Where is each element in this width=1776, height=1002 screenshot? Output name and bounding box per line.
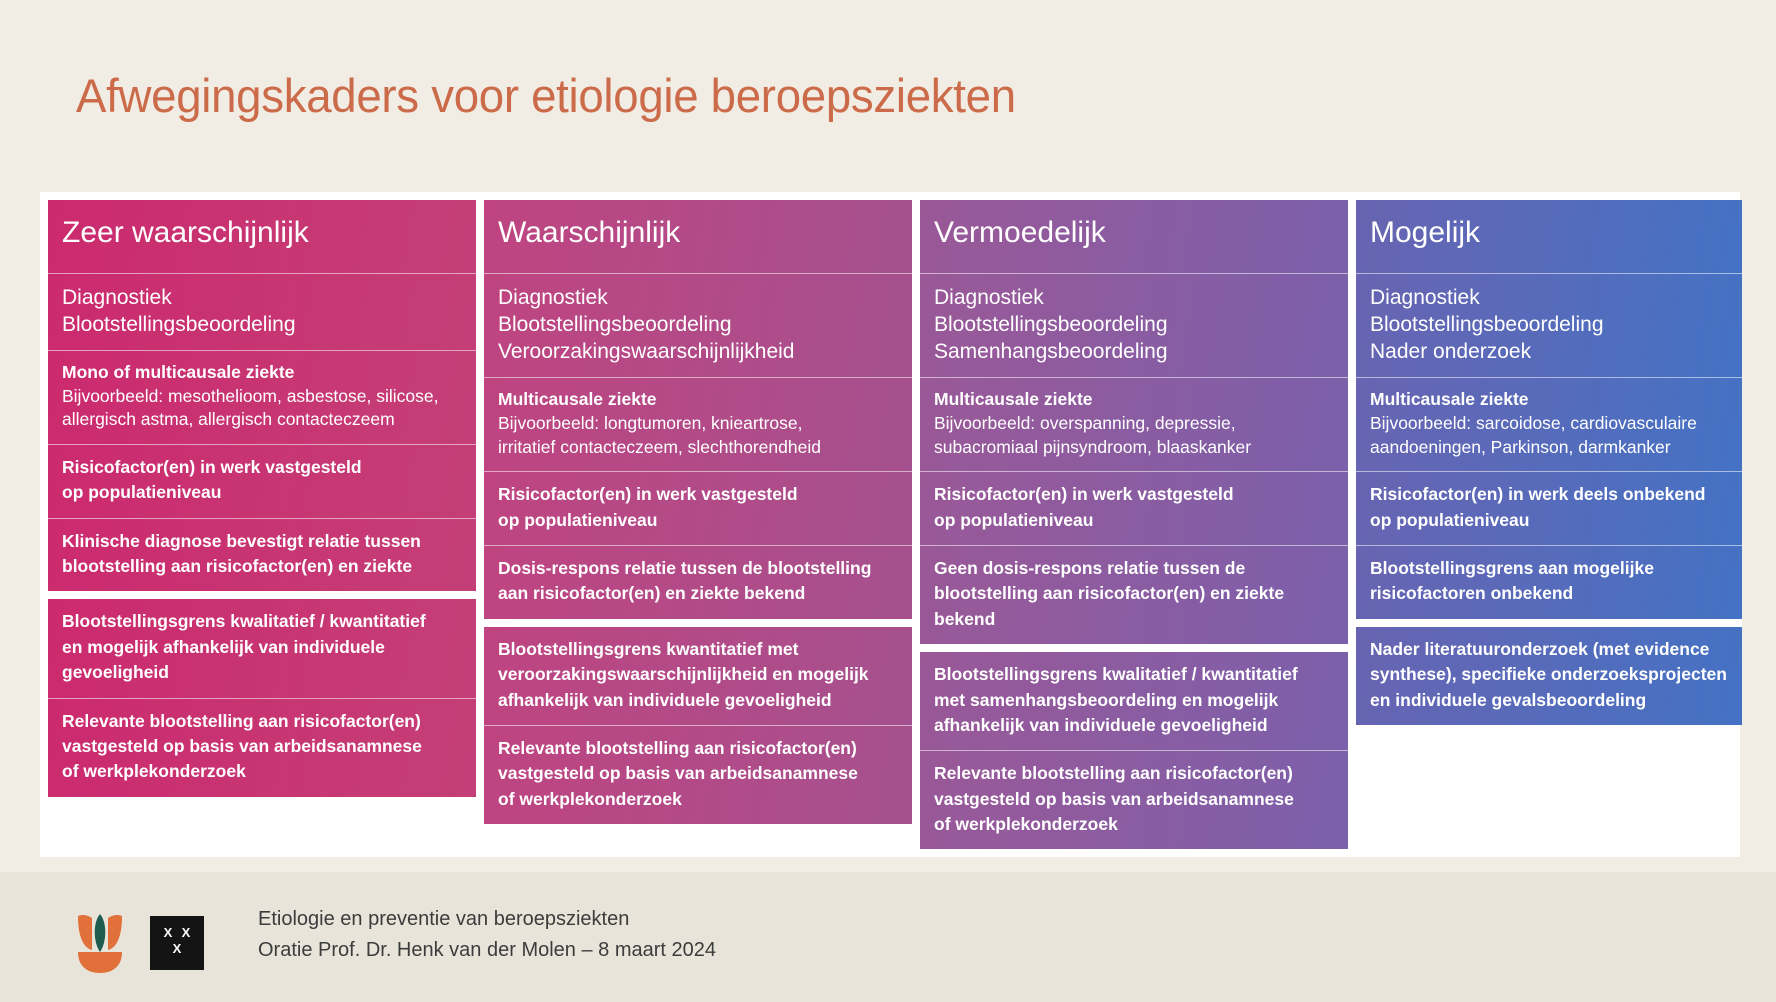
- exposure-assessment-text: Relevante blootstelling aan risicofactor…: [62, 709, 462, 785]
- exposure-limit-cell: Blootstellingsgrens kwantitatief met ver…: [484, 627, 912, 726]
- column-divider: [48, 591, 476, 599]
- column-header-cell: Waarschijnlijk: [484, 200, 912, 274]
- matrix-column-zeer-waarschijnlijk: Zeer waarschijnlijk Diagnostiek Blootste…: [48, 200, 476, 797]
- exposure-limit-text: Blootstellingsgrens kwantitatief met ver…: [498, 637, 898, 713]
- amsterdam-umc-tulip-logo: [72, 912, 128, 974]
- matrix-column-vermoedelijk: Vermoedelijk Diagnostiek Blootstellingsb…: [920, 200, 1348, 849]
- risk-factor-text: Risicofactor(en) in werk deels onbekend …: [1370, 482, 1706, 533]
- footer-logo-group: X X X: [72, 912, 204, 974]
- disease-type-cell: Multicausale ziekte Bijvoorbeeld: longtu…: [484, 378, 912, 472]
- disease-examples-text: Bijvoorbeeld: longtumoren, knieartrose, …: [498, 412, 898, 459]
- assessment-cell: Diagnostiek Blootstellingsbeoordeling: [48, 274, 476, 352]
- column-divider: [920, 644, 1348, 652]
- risk-factor-cell: Risicofactor(en) in werk vastgesteld op …: [484, 472, 912, 546]
- disease-type-cell: Mono of multicausale ziekte Bijvoorbeeld…: [48, 351, 476, 445]
- column-block-main: Zeer waarschijnlijk Diagnostiek Blootste…: [48, 200, 476, 591]
- svg-text:X: X: [164, 925, 173, 940]
- column-header-label: Mogelijk: [1370, 210, 1728, 261]
- column-block-main: Mogelijk Diagnostiek Blootstellingsbeoor…: [1356, 200, 1742, 619]
- assessment-text: Diagnostiek Blootstellingsbeoordeling Sa…: [934, 284, 1334, 366]
- exposure-limit-text: Nader literatuuronderzoek (met evidence …: [1370, 637, 1728, 713]
- disease-type-cell: Multicausale ziekte Bijvoorbeeld: oversp…: [920, 378, 1348, 472]
- column-header-cell: Mogelijk: [1356, 200, 1742, 274]
- disease-type-cell: Multicausale ziekte Bijvoorbeeld: sarcoi…: [1356, 378, 1742, 472]
- assessment-text: Diagnostiek Blootstellingsbeoordeling: [62, 284, 462, 339]
- risk-factor-cell: Risicofactor(en) in werk vastgesteld op …: [920, 472, 1348, 546]
- footer-line-1: Etiologie en preventie van beroepsziekte…: [258, 904, 716, 935]
- column-block-main: Vermoedelijk Diagnostiek Blootstellingsb…: [920, 200, 1348, 644]
- exposure-assessment-text: Relevante blootstelling aan risicofactor…: [934, 761, 1334, 837]
- svg-text:X: X: [182, 925, 191, 940]
- column-header-cell: Vermoedelijk: [920, 200, 1348, 274]
- footer-line-2: Oratie Prof. Dr. Henk van der Molen – 8 …: [258, 935, 716, 966]
- risk-factor-text: Risicofactor(en) in werk vastgesteld op …: [934, 482, 1234, 533]
- disease-type-label: Multicausale ziekte: [498, 388, 898, 412]
- relation-cell: Geen dosis-respons relatie tussen de blo…: [920, 546, 1348, 644]
- relation-cell: Blootstellingsgrens aan mogelijke risico…: [1356, 546, 1742, 619]
- disease-examples-text: Bijvoorbeeld: sarcoidose, cardiovasculai…: [1370, 412, 1728, 459]
- exposure-assessment-cell: Relevante blootstelling aan risicofactor…: [484, 726, 912, 824]
- etiology-matrix-table: Zeer waarschijnlijk Diagnostiek Blootste…: [40, 192, 1740, 857]
- assessment-text: Diagnostiek Blootstellingsbeoordeling Na…: [1370, 284, 1728, 366]
- risk-factor-cell: Risicofactor(en) in werk vastgesteld op …: [48, 445, 476, 519]
- assessment-cell: Diagnostiek Blootstellingsbeoordeling Na…: [1356, 274, 1742, 379]
- column-header-label: Zeer waarschijnlijk: [62, 210, 462, 261]
- risk-factor-cell: Risicofactor(en) in werk deels onbekend …: [1356, 472, 1742, 546]
- exposure-limit-text: Blootstellingsgrens kwalitatief / kwanti…: [62, 609, 462, 685]
- disease-examples-text: Bijvoorbeeld: mesothelioom, asbestose, s…: [62, 385, 462, 432]
- svg-text:X: X: [173, 941, 182, 956]
- column-block-secondary: Blootstellingsgrens kwalitatief / kwanti…: [48, 599, 476, 796]
- slide-canvas: Afwegingskaders voor etiologie beroepszi…: [0, 0, 1776, 1002]
- page-title: Afwegingskaders voor etiologie beroepszi…: [76, 68, 1016, 123]
- relation-cell: Klinische diagnose bevestigt relatie tus…: [48, 519, 476, 592]
- matrix-column-waarschijnlijk: Waarschijnlijk Diagnostiek Blootstelling…: [484, 200, 912, 824]
- exposure-assessment-text: Relevante blootstelling aan risicofactor…: [498, 736, 898, 812]
- uva-shield-icon: X X X: [150, 916, 204, 970]
- column-divider: [1356, 619, 1742, 627]
- disease-examples-text: Bijvoorbeeld: overspanning, depressie, s…: [934, 412, 1334, 459]
- disease-type-label: Multicausale ziekte: [1370, 388, 1728, 412]
- exposure-assessment-cell: Relevante blootstelling aan risicofactor…: [48, 699, 476, 797]
- footer-text: Etiologie en preventie van beroepsziekte…: [258, 904, 716, 966]
- assessment-cell: Diagnostiek Blootstellingsbeoordeling Sa…: [920, 274, 1348, 379]
- matrix-column-mogelijk: Mogelijk Diagnostiek Blootstellingsbeoor…: [1356, 200, 1742, 725]
- disease-type-label: Multicausale ziekte: [934, 388, 1334, 412]
- disease-type-label: Mono of multicausale ziekte: [62, 361, 462, 385]
- assessment-cell: Diagnostiek Blootstellingsbeoordeling Ve…: [484, 274, 912, 379]
- assessment-text: Diagnostiek Blootstellingsbeoordeling Ve…: [498, 284, 898, 366]
- column-block-secondary: Nader literatuuronderzoek (met evidence …: [1356, 627, 1742, 725]
- relation-text: Geen dosis-respons relatie tussen de blo…: [934, 556, 1284, 632]
- column-divider: [484, 619, 912, 627]
- relation-text: Klinische diagnose bevestigt relatie tus…: [62, 529, 421, 580]
- column-header-label: Waarschijnlijk: [498, 210, 898, 261]
- column-header-cell: Zeer waarschijnlijk: [48, 200, 476, 274]
- exposure-limit-cell: Nader literatuuronderzoek (met evidence …: [1356, 627, 1742, 725]
- relation-text: Blootstellingsgrens aan mogelijke risico…: [1370, 556, 1654, 607]
- column-header-label: Vermoedelijk: [934, 210, 1334, 261]
- exposure-limit-cell: Blootstellingsgrens kwalitatief / kwanti…: [920, 652, 1348, 751]
- column-block-secondary: Blootstellingsgrens kwalitatief / kwanti…: [920, 652, 1348, 849]
- tulip-icon: [72, 912, 128, 974]
- risk-factor-text: Risicofactor(en) in werk vastgesteld op …: [498, 482, 798, 533]
- column-block-secondary: Blootstellingsgrens kwantitatief met ver…: [484, 627, 912, 824]
- uva-shield-logo: X X X: [150, 916, 204, 970]
- risk-factor-text: Risicofactor(en) in werk vastgesteld op …: [62, 455, 362, 506]
- exposure-limit-cell: Blootstellingsgrens kwalitatief / kwanti…: [48, 599, 476, 698]
- exposure-limit-text: Blootstellingsgrens kwalitatief / kwanti…: [934, 662, 1334, 738]
- relation-cell: Dosis-respons relatie tussen de blootste…: [484, 546, 912, 619]
- relation-text: Dosis-respons relatie tussen de blootste…: [498, 556, 871, 607]
- exposure-assessment-cell: Relevante blootstelling aan risicofactor…: [920, 751, 1348, 849]
- column-block-main: Waarschijnlijk Diagnostiek Blootstelling…: [484, 200, 912, 619]
